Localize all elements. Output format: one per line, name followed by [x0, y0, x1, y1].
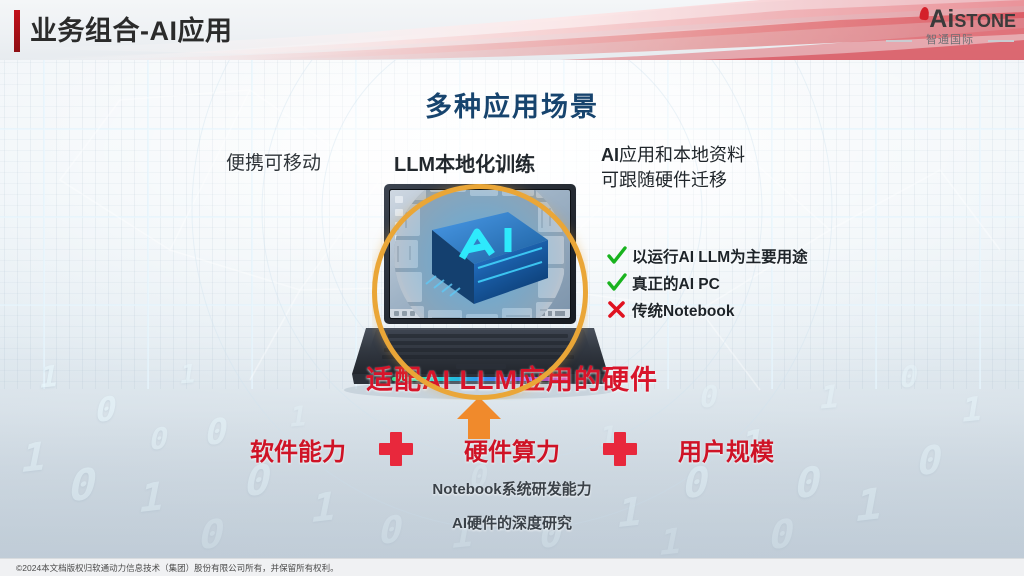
list-item: 传统Notebook — [606, 296, 808, 323]
list-item-label: 真正的AI PC — [632, 272, 720, 294]
sub-note-notebook-rnd: Notebook系统研发能力 — [0, 478, 1024, 499]
check-icon — [606, 272, 627, 293]
slide-content: 多种应用场景 便携可移动 LLM本地化训练 AI应用和本地资料 可跟随硬件迁移 — [0, 60, 1024, 558]
section-heading-scenarios: 多种应用场景 — [0, 85, 1024, 124]
slide-footer: ©2024本文档版权归软通动力信息技术（集团）股份有限公司所有，并保留所有权利。 — [0, 558, 1024, 576]
list-item: 以运行AI LLM为主要用途 — [606, 242, 808, 269]
pillar-hardware: 硬件算力 — [427, 432, 597, 467]
logo-letter-a: A — [929, 5, 947, 33]
up-arrow-icon — [455, 395, 503, 439]
check-icon — [606, 245, 627, 266]
label-llm-local-training: LLM本地化训练 — [394, 148, 535, 177]
sub-note-ai-research: AI硬件的深度研究 — [0, 512, 1024, 533]
list-item: 真正的AI PC — [606, 269, 808, 296]
plus-icon — [373, 427, 427, 471]
label-migration-rest: 应用和本地资料 — [619, 145, 745, 165]
copyright-text: ©2024本文档版权归软通动力信息技术（集团）股份有限公司所有，并保留所有权利。 — [16, 559, 339, 576]
list-item-label: 传统Notebook — [632, 299, 734, 321]
page-title: 业务组合-AI应用 — [30, 11, 233, 51]
pillar-software: 软件能力 — [223, 432, 373, 467]
pillar-users: 用户规模 — [651, 432, 801, 467]
logo-chinese-name: 智通国际 — [884, 32, 1016, 49]
logo-letters-stone: STONE — [954, 11, 1016, 31]
title-accent-bar — [14, 10, 20, 52]
feature-bullet-list: 以运行AI LLM为主要用途 真正的AI PC 传统Notebook — [606, 242, 808, 323]
capability-pillars-row: 软件能力 硬件算力 用户规模 — [0, 426, 1024, 472]
label-portable: 便携可移动 — [226, 148, 321, 175]
cross-icon — [606, 299, 627, 320]
slide: 1 0 0 1 1 0 1 0 0 1 0 1 0 1 0 1 0 1 0 1 … — [0, 0, 1024, 576]
aistone-logo: AiSTONE 智通国际 — [884, 6, 1016, 52]
highlight-ring — [372, 184, 588, 400]
slide-header: 业务组合-AI应用 AiSTONE 智通国际 — [0, 0, 1024, 60]
label-migration-line1: AI应用和本地资料 — [601, 143, 745, 168]
label-migration-ai: AI — [601, 145, 619, 165]
plus-icon — [597, 427, 651, 471]
logo-wordmark: AiSTONE — [884, 6, 1016, 32]
list-item-label: 以运行AI LLM为主要用途 — [632, 245, 808, 267]
